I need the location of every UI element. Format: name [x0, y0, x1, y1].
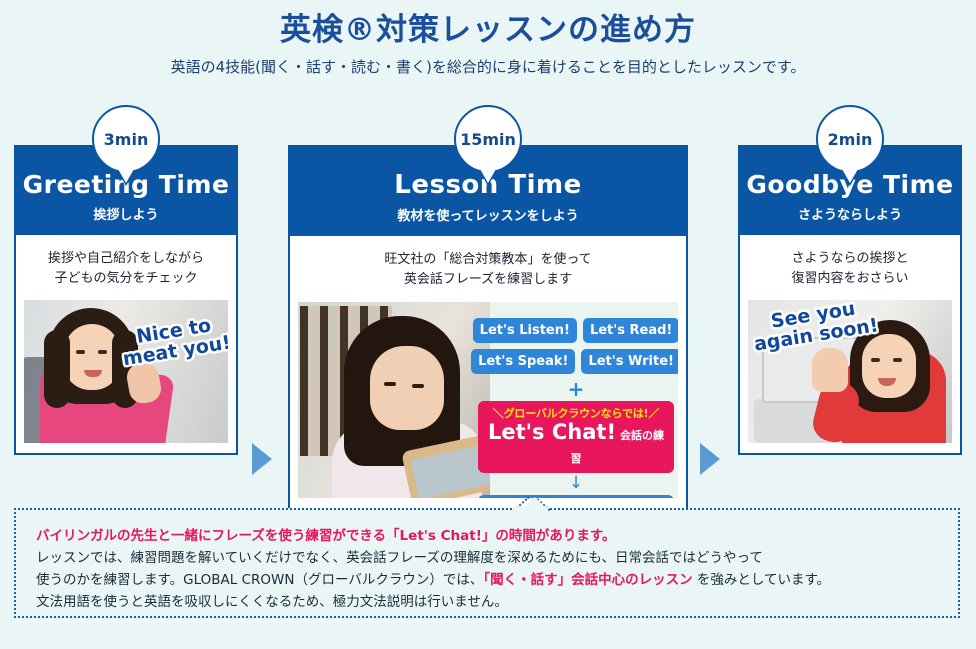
student-eye-right-2: [412, 384, 424, 388]
teacher-eye-left-1: [76, 350, 85, 354]
activity-pill-write[interactable]: Let's Write!: [581, 349, 678, 374]
footer-note-box: バイリンガルの先生と一緒にフレーズを使う練習ができる「Let's Chat!」の…: [14, 508, 960, 618]
teacher-eye-right-3: [893, 358, 902, 362]
pill-row-bottom: Let's Speak! Let's Write!: [478, 349, 674, 374]
card-desc-line1-1: 挨拶や自己紹介をしながら: [24, 249, 228, 269]
eiken-try-banner: 英検®の実践問題にTry!: [478, 495, 674, 498]
step-card-goodbye: 2min Goodbye Time さようならしよう さようならの挨拶と 復習内…: [738, 145, 962, 455]
card-desc-line1-2: 旺文社の「総合対策教本」を使って: [298, 250, 678, 270]
teacher-waving-hand-3: [812, 348, 848, 392]
card-title-jp-3: さようならしよう: [744, 204, 956, 223]
duration-badge-3: 2min: [816, 105, 884, 173]
chat-banner-tagline: ＼グローバルクラウンならでは!／: [484, 405, 668, 421]
page-subtitle: 英語の4技能(聞く・話す・読む・書く)を総合的に身に着けることを目的としたレッス…: [0, 56, 976, 77]
note-line-4: 文法用語を使うと英語を吸収しにくくなるため、極力文法説明は行いません。: [36, 592, 938, 614]
pill-row-top: Let's Listen! Let's Read!: [478, 318, 674, 343]
note-line-3: 使うのかを練習します。GLOBAL CROWN（グローバルクラウン）では、「聞く…: [36, 570, 938, 592]
flow-arrow-icon-1: [252, 443, 272, 475]
bubble-tail-1: [118, 169, 134, 183]
chat-banner-title: Let's Chat!会話の練習: [484, 421, 668, 467]
teacher-face-3: [862, 334, 916, 398]
duration-badge-2: 15min: [454, 105, 522, 173]
duration-badge-1: 3min: [92, 105, 160, 173]
step-card-lesson: 15min Lesson Time 教材を使ってレッスンをしよう 旺文社の「総合…: [288, 145, 688, 510]
teacher-eye-right-1: [98, 350, 107, 354]
lesson-activity-panel: Let's Listen! Let's Read! Let's Speak! L…: [478, 318, 674, 498]
bubble-tail-3: [842, 169, 858, 183]
activity-pill-listen[interactable]: Let's Listen!: [473, 318, 577, 343]
lesson-stage: Let's Listen! Let's Read! Let's Speak! L…: [298, 302, 678, 498]
card-desc-line1-3: さようならの挨拶と: [748, 249, 952, 269]
card-title-jp-1: 挨拶しよう: [20, 204, 232, 223]
photo-goodbye-teacher: See you again soon!: [748, 300, 952, 443]
chat-banner-title-text: Let's Chat!: [488, 420, 616, 444]
card-body-1: 挨拶や自己紹介をしながら 子どもの気分をチェック Nice to: [14, 235, 238, 455]
duration-label-3: 2min: [828, 130, 873, 149]
note-line-3-a: 使うのかを練習します。GLOBAL CROWN（グローバルクラウン）では、: [36, 572, 483, 588]
teacher-hair-left-1: [44, 330, 70, 408]
card-desc-line2-3: 復習内容をおさらい: [748, 269, 952, 289]
note-line-2: レッスンでは、練習問題を解いていくだけでなく、英会話フレーズの理解度を深めるため…: [36, 548, 938, 570]
card-desc-line2-1: 子どもの気分をチェック: [24, 269, 228, 289]
bubble-tail-2: [480, 169, 496, 183]
photo-greeting-teacher: Nice to meat you!: [24, 300, 228, 443]
card-title-jp-2: 教材を使ってレッスンをしよう: [294, 205, 682, 224]
photo-lesson-student: [298, 302, 490, 498]
card-body-3: さようならの挨拶と 復習内容をおさらい See you again soon!: [738, 235, 962, 455]
card-body-2: 旺文社の「総合対策教本」を使って 英会話フレーズを練習します: [288, 236, 688, 510]
note-tail-mask: [512, 507, 548, 513]
step-card-greeting: 3min Greeting Time 挨拶しよう 挨拶や自己紹介をしながら 子ど…: [14, 145, 238, 455]
arrow-down-icon: ↓: [478, 475, 674, 492]
activity-pill-speak[interactable]: Let's Speak!: [471, 349, 575, 374]
page-title: 英検®対策レッスンの進め方: [0, 4, 976, 49]
note-lead-line: バイリンガルの先生と一緒にフレーズを使う練習ができる「Let's Chat!」の…: [36, 526, 938, 548]
activity-pill-read[interactable]: Let's Read!: [583, 318, 678, 343]
note-line-3-b: を強みとしています。: [693, 572, 831, 588]
note-line-3-highlight: 「聞く・話す」会話中心のレッスン: [483, 572, 692, 588]
duration-label-1: 3min: [104, 130, 149, 149]
lets-chat-banner: ＼グローバルクラウンならでは!／ Let's Chat!会話の練習: [478, 401, 674, 473]
card-desc-line2-2: 英会話フレーズを練習します: [298, 270, 678, 290]
teacher-eye-left-3: [871, 358, 880, 362]
flow-arrow-icon-2: [700, 443, 720, 475]
student-eye-left-2: [384, 382, 396, 386]
plus-icon: +: [478, 380, 674, 398]
infographic-page: 英検®対策レッスンの進め方 英語の4技能(聞く・話す・読む・書く)を総合的に身に…: [0, 0, 976, 649]
student-face-2: [370, 346, 444, 430]
duration-label-2: 15min: [460, 130, 516, 149]
